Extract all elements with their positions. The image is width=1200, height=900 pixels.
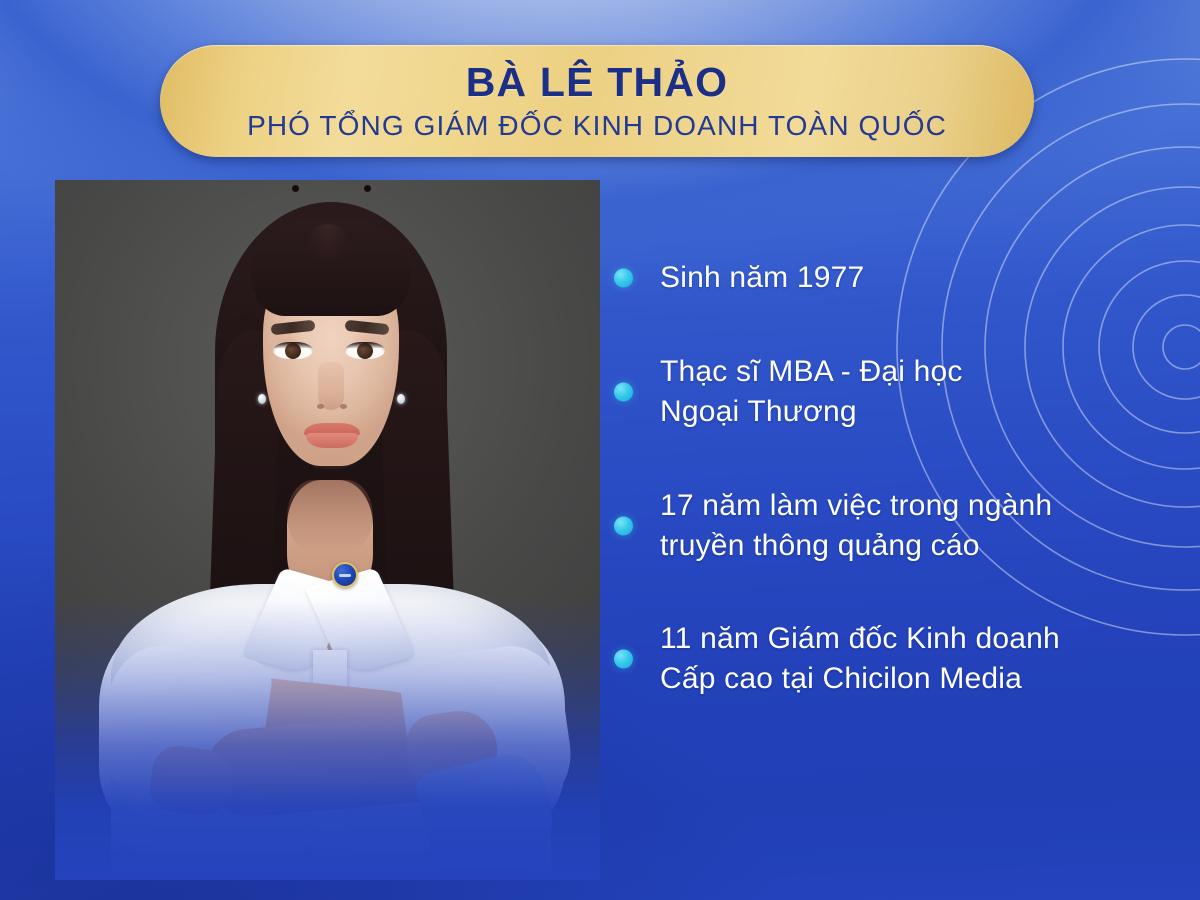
photo-bottom-fade [55, 600, 600, 880]
nostril-left [317, 404, 324, 409]
list-item-label: 17 năm làm việc trong ngành truyền thông… [660, 486, 1052, 566]
portrait-photo [55, 180, 600, 880]
list-item-label: Sinh năm 1977 [660, 258, 864, 298]
list-item: 11 năm Giám đốc Kinh doanh Cấp cao tại C… [614, 619, 1174, 699]
neck-shadow [287, 480, 373, 552]
bio-bullet-list: Sinh năm 1977 Thạc sĩ MBA - Đại học Ngoạ… [614, 258, 1174, 699]
slide-root: BÀ LÊ THẢO PHÓ TỔNG GIÁM ĐỐC KINH DOANH … [0, 0, 1200, 900]
nostril-right [340, 404, 347, 409]
company-badge-pin [332, 562, 358, 588]
page-subtitle: PHÓ TỔNG GIÁM ĐỐC KINH DOANH TOÀN QUỐC [247, 111, 947, 140]
eye-left [273, 342, 313, 359]
header-banner: BÀ LÊ THẢO PHÓ TỔNG GIÁM ĐỐC KINH DOANH … [160, 45, 1034, 157]
bullet-dot-icon [614, 382, 633, 401]
hair-part [307, 224, 349, 260]
list-item: 17 năm làm việc trong ngành truyền thông… [614, 486, 1174, 566]
bullet-dot-icon [614, 516, 633, 535]
eye-right [345, 342, 385, 359]
list-item-label: 11 năm Giám đốc Kinh doanh Cấp cao tại C… [660, 619, 1060, 699]
pupil-right [364, 185, 371, 192]
portrait-inner [55, 180, 600, 880]
bullet-dot-icon [614, 650, 633, 669]
earring-left [258, 394, 266, 404]
earring-right [397, 394, 405, 404]
list-item: Thạc sĩ MBA - Đại học Ngoại Thương [614, 352, 1174, 432]
bullet-dot-icon [614, 268, 633, 287]
page-title: BÀ LÊ THẢO [466, 62, 729, 104]
list-item: Sinh năm 1977 [614, 258, 1174, 298]
eyelash-left [273, 342, 313, 348]
list-item-label: Thạc sĩ MBA - Đại học Ngoại Thương [660, 352, 963, 432]
eyelash-right [345, 342, 385, 348]
pupil-left [292, 185, 299, 192]
chin [307, 452, 357, 470]
nose [318, 362, 344, 410]
